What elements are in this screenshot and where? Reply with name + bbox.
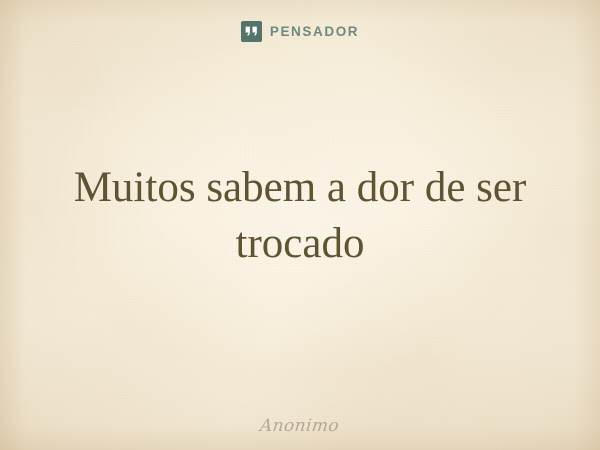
quote-attribution: Anonimo	[0, 416, 600, 436]
card-content: PENSADOR Muitos sabem a dor de ser troca…	[0, 0, 600, 450]
quotation-mark-icon	[241, 21, 262, 42]
author-name: Anonimo	[259, 416, 340, 436]
brand-wordmark: PENSADOR	[270, 25, 359, 39]
quote-text: Muitos sabem a dor de ser trocado	[44, 160, 556, 272]
brand-header[interactable]: PENSADOR	[0, 21, 600, 42]
quote-card: PENSADOR Muitos sabem a dor de ser troca…	[0, 0, 600, 450]
quote-block: Muitos sabem a dor de ser trocado	[0, 160, 600, 272]
